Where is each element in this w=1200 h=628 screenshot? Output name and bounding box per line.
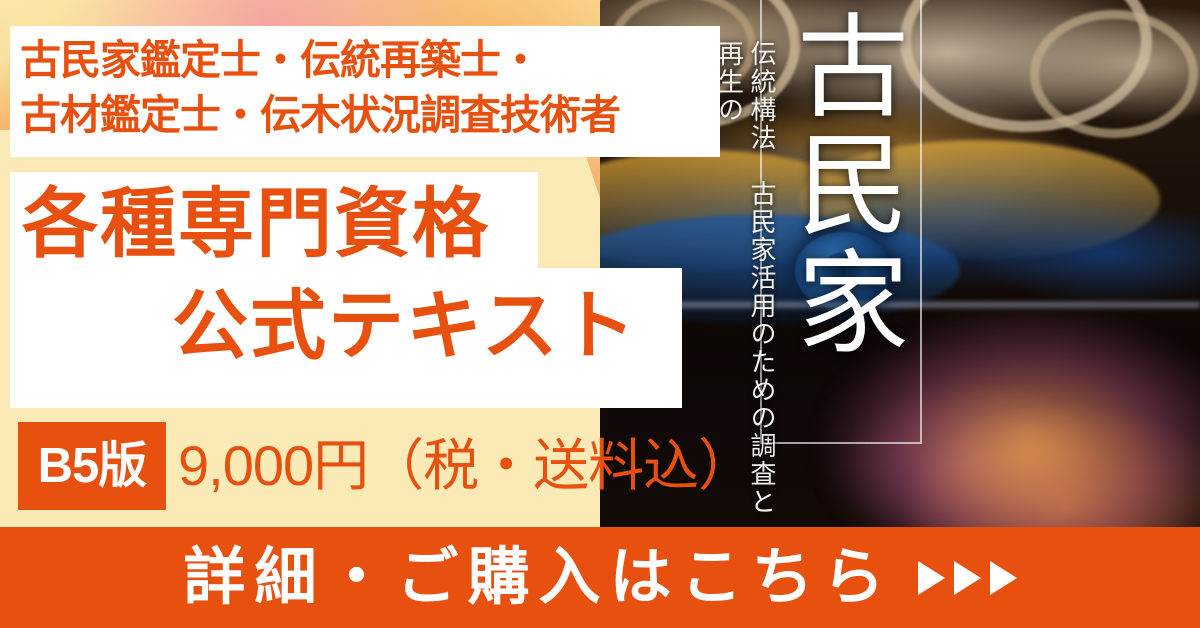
- carving-swirl-icon: [1030, 10, 1198, 138]
- format-badge: B5版: [18, 422, 166, 510]
- price-label: 9,000円（税・送料込）: [178, 424, 753, 508]
- page-title-line-2: 公式テキスト: [172, 289, 638, 365]
- promo-banner: 古民家 伝統構法 古民家活用のための調査と再生の 古民家鑑定士・伝統再築士・ 古…: [0, 0, 1200, 628]
- triple-arrow-right-icon: [918, 561, 1017, 595]
- page-title-line-1: 各種専門資格: [22, 187, 490, 263]
- cta-label: 詳細・ご購入はこちら: [183, 547, 893, 609]
- qualification-list: 古民家鑑定士・伝統再築士・ 古材鑑定士・伝木状況調査技術者: [20, 33, 720, 142]
- book-cover-title: 古民家: [768, 8, 910, 438]
- cta-button[interactable]: 詳細・ご購入はこちら: [0, 527, 1200, 628]
